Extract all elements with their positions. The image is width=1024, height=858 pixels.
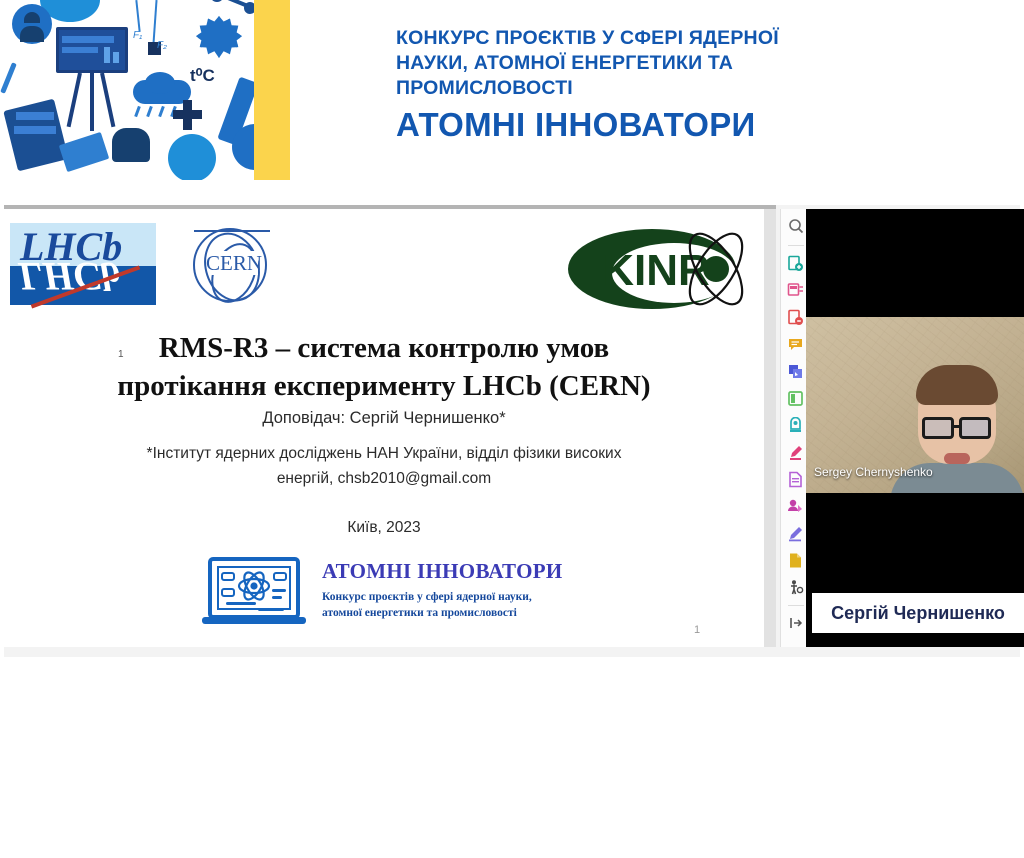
avatar-body bbox=[20, 26, 44, 42]
banner-subtitle-line-1: КОНКУРС ПРОЄКТІВ У СФЕРІ ЯДЕРНОЇ bbox=[396, 26, 996, 51]
expand-panel-icon[interactable] bbox=[785, 612, 807, 634]
pdf-viewer: LHCb LHCb CERN bbox=[4, 205, 1020, 657]
force-label-2: F₂ bbox=[157, 40, 167, 51]
board-bar-2 bbox=[113, 52, 119, 63]
accessibility-icon[interactable] bbox=[785, 576, 807, 598]
book-line-2 bbox=[14, 126, 56, 134]
highlighter-icon[interactable] bbox=[785, 441, 807, 463]
lhcb-logo: LHCb LHCb bbox=[10, 223, 156, 305]
slide-affiliation-line-2: енергій, chsb2010@gmail.com bbox=[44, 466, 724, 491]
bag-icon bbox=[112, 128, 150, 162]
science-icons-collage: F₁ F₂ t⁰C bbox=[0, 0, 254, 180]
atomni-innovatory-logo-subtitle: Конкурс проєктів у сфері ядерної науки, … bbox=[322, 589, 532, 621]
atomni-innovatory-logo: АТОМНІ ІННОВАТОРИ Конкурс проєктів у сфе… bbox=[200, 549, 570, 635]
rain-drop-2 bbox=[146, 106, 153, 117]
board-line-2 bbox=[62, 47, 98, 53]
stamp-icon[interactable] bbox=[785, 414, 807, 436]
participant-video-feed[interactable]: Sergey Chernyshenko bbox=[806, 317, 1024, 493]
participant-name-label: Сергій Чернишенко bbox=[812, 593, 1024, 633]
organize-pages-icon[interactable] bbox=[785, 279, 807, 301]
participant-mouth bbox=[944, 453, 970, 464]
molecule-node-1 bbox=[210, 0, 224, 2]
plus-icon-horizontal bbox=[173, 110, 202, 119]
rain-drop-1 bbox=[134, 106, 141, 117]
toolbar-divider bbox=[788, 245, 804, 246]
atomni-innovatory-logo-title: АТОМНІ ІННОВАТОРИ bbox=[322, 559, 562, 584]
cloud-puff bbox=[145, 72, 175, 94]
board-leg-2 bbox=[100, 73, 115, 128]
comment-icon[interactable] bbox=[785, 333, 807, 355]
molecule-bond bbox=[218, 0, 247, 7]
slide-title: RMS-R3 – система контролю умов протіканн… bbox=[44, 329, 724, 405]
presentation-screenshot: F₁ F₂ t⁰C КОНКУРС bbox=[0, 0, 1024, 858]
logo-subtitle-line-1: Конкурс проєктів у сфері ядерної науки, bbox=[322, 589, 532, 605]
book-line-1 bbox=[16, 112, 54, 120]
slide-edge-shadow bbox=[764, 209, 776, 647]
participant-video-name: Sergey Chernyshenko bbox=[814, 465, 933, 479]
logo-subtitle-line-2: атомної енергетики та промисловості bbox=[322, 605, 532, 621]
glasses-bridge bbox=[953, 425, 961, 428]
slide-page-number: 1 bbox=[694, 624, 700, 636]
pencil-edit-icon[interactable] bbox=[785, 522, 807, 544]
rain-drop-3 bbox=[158, 106, 165, 117]
slide-city-year: Київ, 2023 bbox=[44, 519, 724, 537]
slide-speaker: Доповідач: Сергій Чернишенко* bbox=[44, 409, 724, 428]
sponsors-bar: PHŒNIX CONTACT E A ЕНЕРГОАТОМ Cameco bbox=[0, 672, 1024, 858]
glasses-left-lens-icon bbox=[922, 417, 954, 439]
protect-file-icon[interactable] bbox=[785, 549, 807, 571]
header-banner: F₁ F₂ t⁰C КОНКУРС bbox=[0, 0, 1024, 180]
split-view-icon[interactable] bbox=[785, 387, 807, 409]
pendulum-line-1 bbox=[135, 0, 140, 32]
laptop-atom-icon bbox=[200, 555, 310, 631]
slide-affiliation: *Інститут ядерних досліджень НАН України… bbox=[44, 441, 724, 491]
redact-icon[interactable] bbox=[785, 495, 807, 517]
banner-subtitle-line-2: НАУКИ, АТОМНОЇ ЕНЕРГЕТИКИ ТА bbox=[396, 51, 996, 76]
board-leg-3 bbox=[90, 73, 94, 131]
papers-icon bbox=[59, 132, 109, 172]
slide-canvas[interactable]: LHCb LHCb CERN bbox=[4, 209, 764, 647]
svg-text:CERN: CERN bbox=[206, 251, 262, 275]
cern-logo: CERN bbox=[184, 221, 284, 321]
pendulum-line-2 bbox=[152, 0, 157, 44]
board-bar-1 bbox=[104, 47, 110, 63]
zoom-search-icon[interactable] bbox=[785, 215, 807, 237]
sun-icon bbox=[198, 16, 240, 58]
board-leg-1 bbox=[67, 73, 82, 128]
banner-text-block: КОНКУРС ПРОЄКТІВ У СФЕРІ ЯДЕРНОЇ НАУКИ, … bbox=[396, 26, 996, 145]
yellow-stripe bbox=[254, 0, 290, 180]
kinr-logo: KINR bbox=[564, 223, 764, 319]
board-line-1 bbox=[62, 36, 114, 43]
book-icon bbox=[3, 99, 68, 172]
export-file-icon[interactable] bbox=[785, 468, 807, 490]
temperature-label: t⁰C bbox=[190, 66, 215, 86]
participant-hair bbox=[916, 365, 998, 405]
pen-icon bbox=[0, 62, 17, 94]
fill-and-sign-icon[interactable] bbox=[785, 360, 807, 382]
avatar-hair bbox=[24, 12, 40, 23]
video-panel[interactable]: Sergey Chernyshenko Сергій Чернишенко bbox=[806, 209, 1024, 647]
banner-title: АТОМНІ ІННОВАТОРИ bbox=[396, 105, 996, 145]
add-page-icon[interactable] bbox=[785, 252, 807, 274]
slide-affiliation-line-1: *Інститут ядерних досліджень НАН України… bbox=[44, 441, 724, 466]
toolbar-bottom-divider bbox=[788, 605, 804, 606]
banner-subtitle-line-3: ПРОМИСЛОВОСТІ bbox=[396, 76, 996, 101]
slide-title-line-1: RMS-R3 – система контролю умов bbox=[44, 329, 724, 367]
glasses-right-lens-icon bbox=[959, 417, 991, 439]
force-label-1: F₁ bbox=[133, 30, 142, 41]
slide-title-line-2: протікання експерименту LHCb (CERN) bbox=[44, 367, 724, 405]
delete-page-icon[interactable] bbox=[785, 306, 807, 328]
decor-circle-blue bbox=[168, 134, 216, 180]
